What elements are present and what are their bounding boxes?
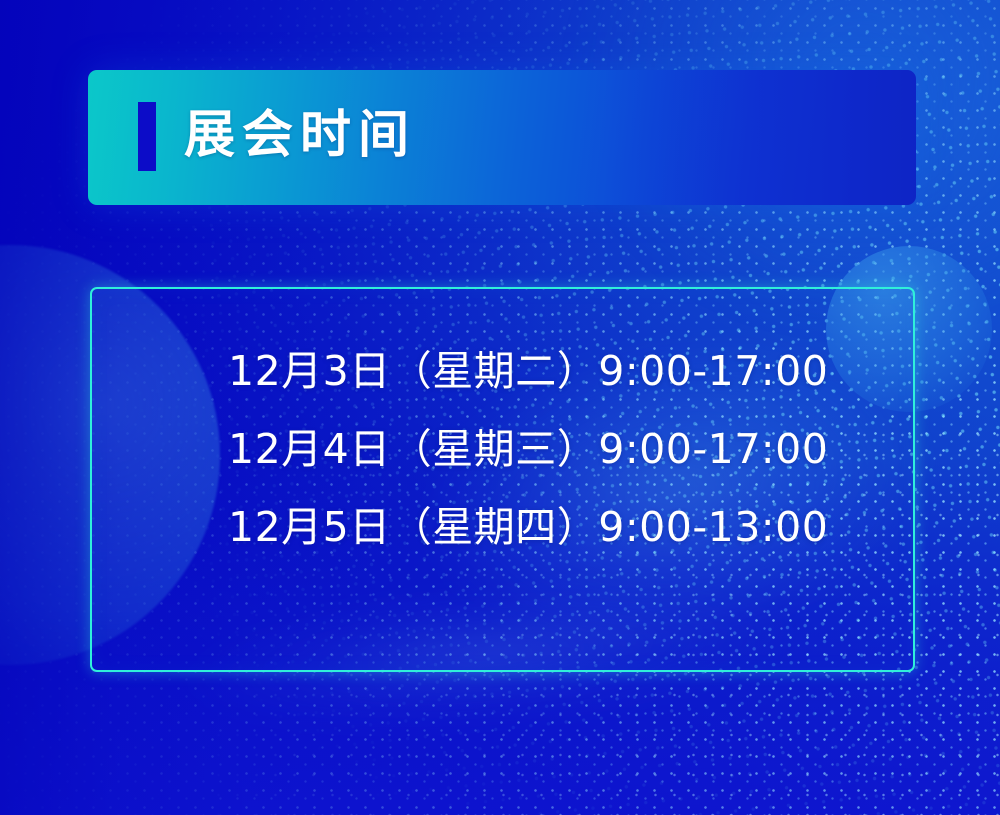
schedule-list: 12月3日（星期二）9:00-17:00 12月4日（星期三）9:00-17:0…: [92, 351, 913, 547]
schedule-line-2: 12月4日（星期三）9:00-17:00: [92, 429, 913, 469]
schedule-line-1: 12月3日（星期二）9:00-17:00: [92, 351, 913, 391]
schedule-line-3: 12月5日（星期四）9:00-13:00: [92, 507, 913, 547]
poster-canvas: 展会时间 12月3日（星期二）9:00-17:00 12月4日（星期三）9:00…: [0, 0, 1000, 815]
section-header-bar: 展会时间: [88, 70, 916, 205]
page-title: 展会时间: [184, 94, 416, 178]
accent-bar-icon: [138, 102, 156, 171]
schedule-panel: 12月3日（星期二）9:00-17:00 12月4日（星期三）9:00-17:0…: [90, 287, 915, 672]
